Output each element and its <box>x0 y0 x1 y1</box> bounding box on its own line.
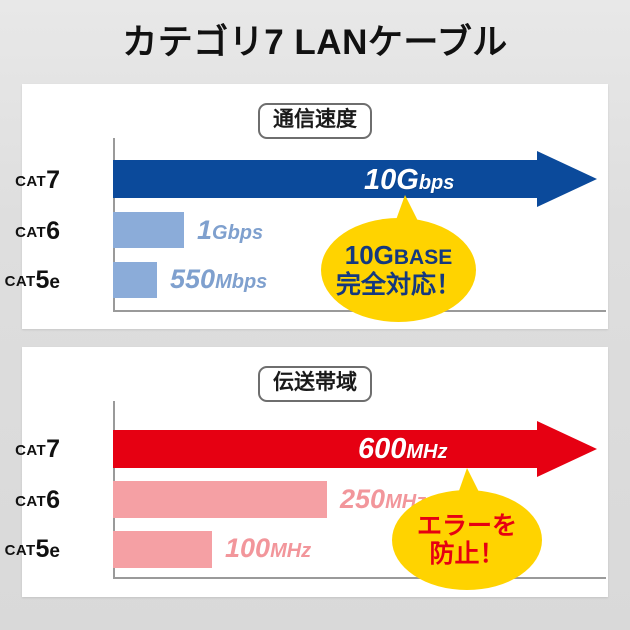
value-cat7-speed: 10Gbps <box>364 164 454 197</box>
row-label-cat-number: 7 <box>46 166 60 194</box>
bar-cat7-speed-arrowhead <box>537 151 597 207</box>
speech-bubble-line-1: エラーを <box>417 512 517 540</box>
speech-bubble-line-2: 完全対応！ <box>336 271 461 299</box>
bar-cat6-band <box>113 481 327 518</box>
row-label-cat-prefix: CAT <box>15 224 46 241</box>
row-label-cat-number: 7 <box>46 435 60 463</box>
row-label-cat-number: 5 <box>36 535 50 563</box>
axis-horizontal-band <box>113 577 606 579</box>
row-label-cat7-speed: CAT7 <box>0 166 60 195</box>
row-label-cat6-speed: CAT6 <box>0 217 60 246</box>
row-label-cat5e-speed: CAT5e <box>0 266 60 295</box>
row-label-cat-prefix: CAT <box>15 442 46 459</box>
section-tag-speed: 通信速度 <box>258 103 372 139</box>
bar-cat7-band <box>113 430 575 468</box>
row-label-cat-number: 5 <box>36 266 50 294</box>
speech-bubble-line-1: 10GBASE <box>345 241 453 270</box>
page-title: カテゴリ7 LANケーブル <box>0 14 630 65</box>
value-cat7-band: 600MHz <box>358 433 448 466</box>
row-label-cat-suffix: e <box>49 541 60 562</box>
bar-cat6-speed <box>113 212 184 248</box>
row-label-cat-prefix: CAT <box>15 173 46 190</box>
row-label-cat-number: 6 <box>46 486 60 514</box>
bar-cat5e-speed <box>113 262 157 298</box>
row-label-cat-prefix: CAT <box>15 493 46 510</box>
row-label-cat7-band: CAT7 <box>0 435 60 464</box>
row-label-cat5e-band: CAT5e <box>0 535 60 564</box>
section-tag-band: 伝送帯域 <box>258 366 372 402</box>
speech-bubble-10gbase: 10GBASE 完全対応！ <box>321 218 476 322</box>
panel-communication-speed: 通信速度 CAT7 10Gbps CAT6 1Gbps CAT5e 550Mbp… <box>22 84 608 329</box>
value-cat6-speed: 1Gbps <box>197 215 263 246</box>
bar-cat7-speed-body <box>113 160 537 198</box>
value-cat5e-speed: 550Mbps <box>170 264 267 295</box>
row-label-cat-prefix: CAT <box>5 542 36 559</box>
bar-cat7-band-body <box>113 430 537 468</box>
bar-cat5e-band <box>113 531 212 568</box>
row-label-cat-suffix: e <box>49 272 60 293</box>
row-label-cat-number: 6 <box>46 217 60 245</box>
bar-cat7-speed <box>113 160 575 198</box>
speech-bubble-error-prevention: エラーを 防止！ <box>392 490 542 590</box>
row-label-cat6-band: CAT6 <box>0 486 60 515</box>
value-cat5e-band: 100MHz <box>225 533 311 564</box>
bar-cat7-band-arrowhead <box>537 421 597 477</box>
speech-bubble-line-2: 防止！ <box>429 540 504 568</box>
row-label-cat-prefix: CAT <box>5 273 36 290</box>
